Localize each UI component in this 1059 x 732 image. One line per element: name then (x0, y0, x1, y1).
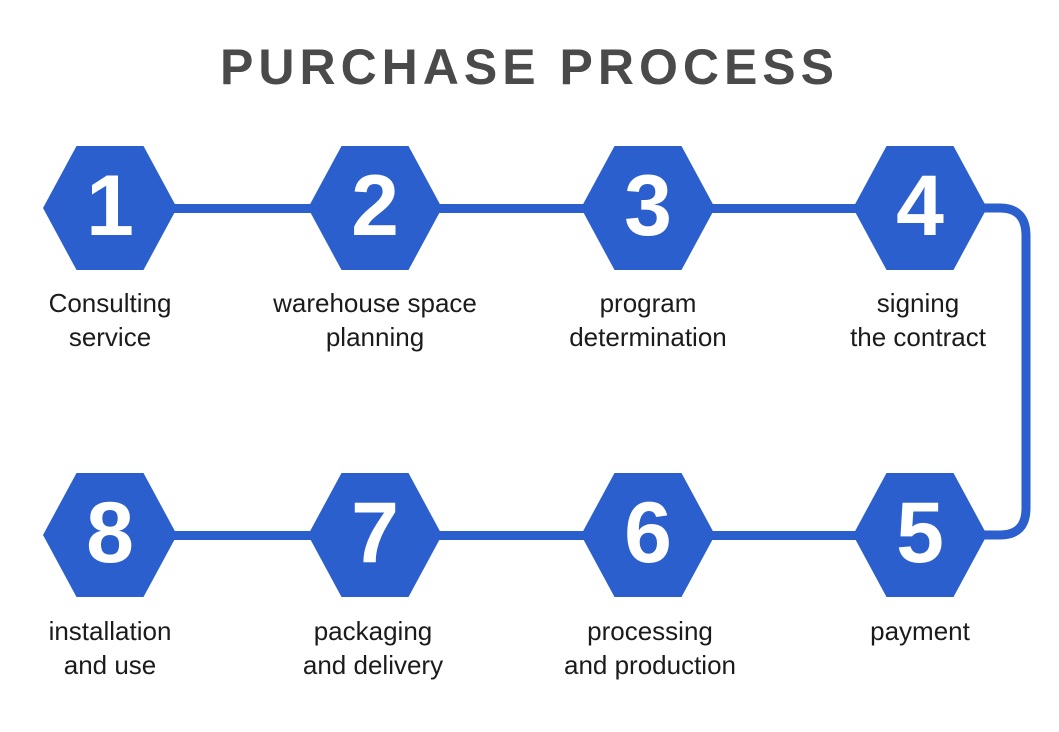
connector-1-2 (160, 204, 320, 213)
step-label-4: signing the contract (753, 286, 1059, 355)
step-node-1[interactable]: 1 (43, 144, 177, 272)
step-node-6[interactable]: 6 (581, 471, 715, 599)
connector-8-7 (160, 531, 320, 540)
step-node-3[interactable]: 3 (581, 144, 715, 272)
connector-6-5 (700, 531, 868, 540)
step-node-8[interactable]: 8 (43, 471, 177, 599)
step-label-5: payment (755, 614, 1059, 648)
step-node-5[interactable]: 5 (853, 471, 987, 599)
purchase-process-infographic: PURCHASE PROCESS 1 Consulting service 2 … (0, 0, 1059, 732)
connector-2-3 (428, 204, 593, 213)
step-number: 6 (581, 471, 715, 599)
step-number: 8 (43, 471, 177, 599)
step-number: 3 (581, 144, 715, 272)
step-number: 1 (43, 144, 177, 272)
step-number: 7 (308, 471, 442, 599)
step-number: 5 (853, 471, 987, 599)
step-node-7[interactable]: 7 (308, 471, 442, 599)
connector-7-6 (428, 531, 593, 540)
connector-3-4 (700, 204, 868, 213)
step-node-2[interactable]: 2 (308, 144, 442, 272)
step-number: 4 (853, 144, 987, 272)
step-number: 2 (308, 144, 442, 272)
step-node-4[interactable]: 4 (853, 144, 987, 272)
